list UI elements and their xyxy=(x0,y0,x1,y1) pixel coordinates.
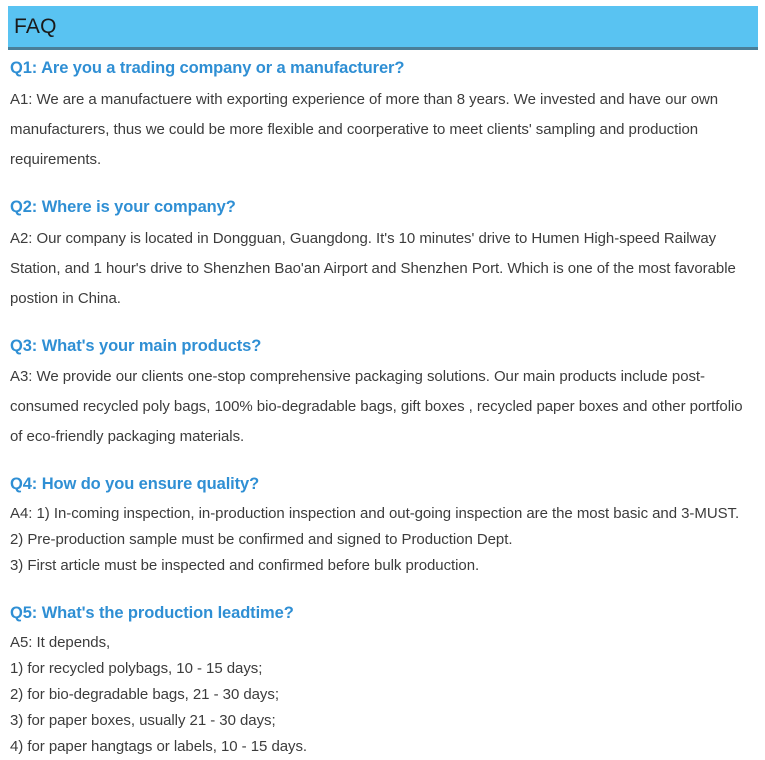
faq-answer-q2: A2: Our company is located in Dongguan, … xyxy=(10,224,755,314)
answer-line: 2) Pre-production sample must be confirm… xyxy=(10,527,755,553)
faq-answer-q4: A4: 1) In-coming inspection, in-producti… xyxy=(10,501,755,579)
faq-item-q3: Q3: What's your main products? A3: We pr… xyxy=(10,334,755,453)
faq-list: Q1: Are you a trading company or a manuf… xyxy=(10,56,755,760)
answer-line: A4: 1) In-coming inspection, in-producti… xyxy=(10,501,755,527)
answer-line: 2) for bio-degradable bags, 21 - 30 days… xyxy=(10,682,755,708)
faq-banner-title: FAQ xyxy=(8,16,57,37)
faq-item-q5: Q5: What's the production leadtime? A5: … xyxy=(10,601,755,760)
faq-answer-q1: A1: We are a manufactuere with exporting… xyxy=(10,85,755,175)
faq-item-q1: Q1: Are you a trading company or a manuf… xyxy=(10,56,755,175)
faq-answer-q3: A3: We provide our clients one-stop comp… xyxy=(10,362,755,452)
answer-line: 3) First article must be inspected and c… xyxy=(10,553,755,579)
faq-item-q4: Q4: How do you ensure quality? A4: 1) In… xyxy=(10,472,755,579)
faq-question-q2: Q2: Where is your company? xyxy=(10,195,755,220)
faq-page: FAQ Q1: Are you a trading company or a m… xyxy=(0,0,765,748)
faq-item-q2: Q2: Where is your company? A2: Our compa… xyxy=(10,195,755,314)
answer-line: 4) for paper hangtags or labels, 10 - 15… xyxy=(10,734,755,760)
faq-answer-q5: A5: It depends,1) for recycled polybags,… xyxy=(10,630,755,760)
faq-question-q1: Q1: Are you a trading company or a manuf… xyxy=(10,56,755,81)
faq-banner: FAQ xyxy=(8,6,758,50)
answer-line: A5: It depends, xyxy=(10,630,755,656)
answer-line: 1) for recycled polybags, 10 - 15 days; xyxy=(10,656,755,682)
answer-line: 3) for paper boxes, usually 21 - 30 days… xyxy=(10,708,755,734)
faq-question-q3: Q3: What's your main products? xyxy=(10,334,755,359)
faq-question-q5: Q5: What's the production leadtime? xyxy=(10,601,755,626)
faq-question-q4: Q4: How do you ensure quality? xyxy=(10,472,755,497)
